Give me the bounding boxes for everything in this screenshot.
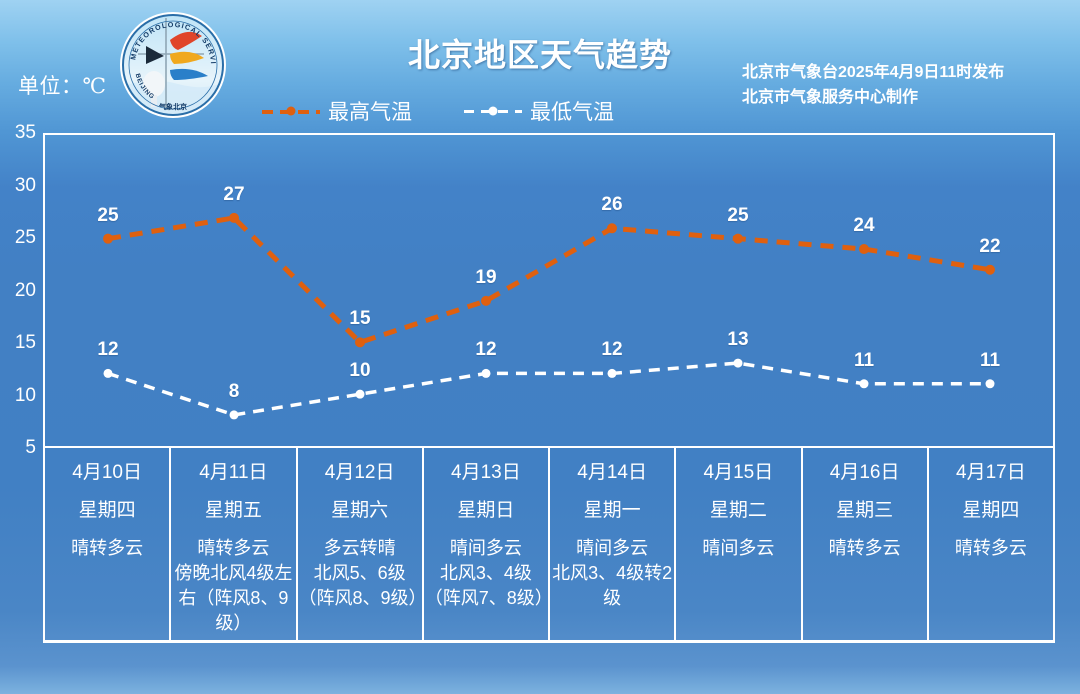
forecast-column: 4月11日星期五晴转多云傍晚北风4级左右（阵风8、9级） bbox=[169, 448, 295, 640]
low-temp-value-label: 13 bbox=[727, 329, 748, 351]
forecast-table: 4月10日星期四晴转多云4月11日星期五晴转多云傍晚北风4级左右（阵风8、9级）… bbox=[43, 448, 1055, 643]
legend-label-low: 最低气温 bbox=[530, 96, 614, 126]
forecast-column: 4月16日星期三晴转多云 bbox=[801, 448, 927, 640]
forecast-weekday: 星期四 bbox=[45, 496, 169, 526]
high-temp-point bbox=[229, 213, 239, 223]
forecast-date: 4月13日 bbox=[424, 458, 548, 488]
high-temp-value-label: 15 bbox=[349, 308, 370, 330]
y-axis-tick: 30 bbox=[0, 175, 36, 197]
forecast-column: 4月15日星期二晴间多云 bbox=[674, 448, 800, 640]
y-axis-tick: 25 bbox=[0, 227, 36, 249]
high-temp-point bbox=[733, 234, 743, 244]
forecast-weekday: 星期四 bbox=[929, 496, 1053, 526]
forecast-column: 4月13日星期日晴间多云北风3、4级（阵风7、8级） bbox=[422, 448, 548, 640]
issuer-info: 北京市气象台2025年4月9日11时发布 北京市气象服务中心制作 bbox=[742, 60, 1062, 110]
chart-legend: 最高气温 最低气温 bbox=[262, 96, 614, 126]
low-temp-value-label: 11 bbox=[854, 350, 874, 372]
high-temp-value-label: 19 bbox=[475, 267, 496, 289]
forecast-weekday: 星期一 bbox=[550, 496, 674, 526]
low-temp-point bbox=[608, 369, 617, 378]
forecast-weekday: 星期三 bbox=[803, 496, 927, 526]
high-temp-value-label: 25 bbox=[97, 205, 118, 227]
high-temp-point bbox=[985, 265, 995, 275]
low-temp-point bbox=[230, 410, 239, 419]
weather-trend-infographic: 单位：℃ bbox=[0, 0, 1080, 694]
forecast-weather-text: 晴间多云北风3、4级（阵风7、8级） bbox=[424, 536, 548, 611]
chart-plot-area: 2527151926252422128101212131111 bbox=[43, 133, 1055, 448]
legend-label-high: 最高气温 bbox=[328, 96, 412, 126]
forecast-date: 4月15日 bbox=[676, 458, 800, 488]
forecast-column: 4月14日星期一晴间多云北风3、4级转2级 bbox=[548, 448, 674, 640]
forecast-date: 4月14日 bbox=[550, 458, 674, 488]
issuer-line-1: 北京市气象台2025年4月9日11时发布 bbox=[742, 60, 1062, 85]
forecast-weather-text: 晴转多云 bbox=[929, 536, 1053, 561]
low-temp-point bbox=[482, 369, 491, 378]
high-temp-value-label: 22 bbox=[979, 236, 1000, 258]
forecast-column: 4月17日星期四晴转多云 bbox=[927, 448, 1055, 640]
legend-line-high-icon bbox=[262, 105, 320, 117]
forecast-weekday: 星期二 bbox=[676, 496, 800, 526]
low-temp-value-label: 10 bbox=[349, 360, 370, 382]
forecast-column: 4月12日星期六多云转晴北风5、6级（阵风8、9级） bbox=[296, 448, 422, 640]
high-temp-point bbox=[355, 337, 365, 347]
high-temp-value-label: 25 bbox=[727, 205, 748, 227]
forecast-date: 4月11日 bbox=[171, 458, 295, 488]
low-temp-value-label: 12 bbox=[475, 339, 496, 361]
high-temp-point bbox=[481, 296, 491, 306]
legend-item-low-temp: 最低气温 bbox=[464, 96, 614, 126]
low-temp-value-label: 11 bbox=[980, 350, 1000, 372]
high-temp-point bbox=[607, 223, 617, 233]
forecast-date: 4月12日 bbox=[298, 458, 422, 488]
issuer-line-2: 北京市气象服务中心制作 bbox=[742, 85, 1062, 110]
low-temp-point bbox=[356, 390, 365, 399]
svg-text:气象北京: 气象北京 bbox=[158, 102, 187, 111]
low-temp-point bbox=[734, 359, 743, 368]
high-temp-value-label: 26 bbox=[601, 194, 622, 216]
y-axis-tick: 15 bbox=[0, 332, 36, 354]
forecast-weather-text: 晴间多云 bbox=[676, 536, 800, 561]
y-axis-tick: 20 bbox=[0, 280, 36, 302]
forecast-column: 4月10日星期四晴转多云 bbox=[43, 448, 169, 640]
forecast-weekday: 星期日 bbox=[424, 496, 548, 526]
forecast-weather-text: 晴转多云 bbox=[803, 536, 927, 561]
forecast-date: 4月17日 bbox=[929, 458, 1053, 488]
low-temp-value-label: 12 bbox=[97, 339, 118, 361]
high-temp-value-label: 27 bbox=[223, 184, 244, 206]
forecast-date: 4月10日 bbox=[45, 458, 169, 488]
forecast-weather-text: 晴转多云 bbox=[45, 536, 169, 561]
low-temp-point bbox=[986, 379, 995, 388]
y-axis-tick: 35 bbox=[0, 122, 36, 144]
legend-line-low-icon bbox=[464, 105, 522, 117]
forecast-weekday: 星期六 bbox=[298, 496, 422, 526]
high-temp-value-label: 24 bbox=[853, 215, 874, 237]
y-axis-tick: 10 bbox=[0, 385, 36, 407]
y-axis: 3530252015105 bbox=[0, 133, 36, 448]
forecast-weather-text: 多云转晴北风5、6级（阵风8、9级） bbox=[298, 536, 422, 611]
forecast-date: 4月16日 bbox=[803, 458, 927, 488]
legend-item-high-temp: 最高气温 bbox=[262, 96, 412, 126]
low-temp-point bbox=[104, 369, 113, 378]
high-temp-point bbox=[859, 244, 869, 254]
high-temp-point bbox=[103, 234, 113, 244]
forecast-weather-text: 晴转多云傍晚北风4级左右（阵风8、9级） bbox=[171, 536, 295, 636]
low-temp-point bbox=[860, 379, 869, 388]
low-temp-value-label: 8 bbox=[229, 381, 240, 403]
forecast-weekday: 星期五 bbox=[171, 496, 295, 526]
low-temp-value-label: 12 bbox=[601, 339, 622, 361]
y-axis-tick: 5 bbox=[0, 437, 36, 459]
forecast-weather-text: 晴间多云北风3、4级转2级 bbox=[550, 536, 674, 611]
